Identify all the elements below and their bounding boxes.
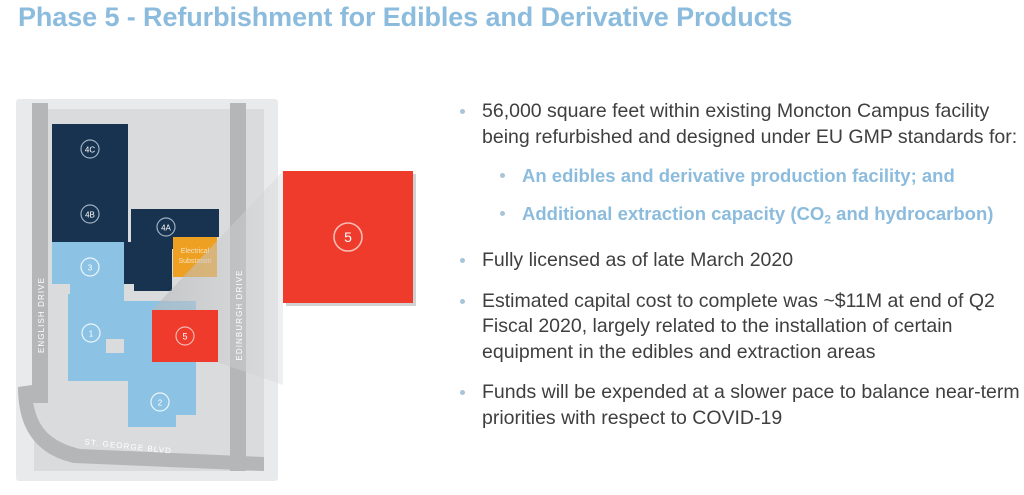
slide-canvas: Phase 5 - Refurbishment for Edibles and … [0, 0, 1024, 495]
sub-bullet-item-2-post: and hydrocarbon) [831, 203, 993, 224]
building-marker-4a-label: 4A [161, 224, 171, 233]
building-marker-4b-label: 4B [85, 211, 95, 220]
site-map: Electrical Substation 5 5 4C 4B [0, 85, 440, 495]
sub-bullet-item-1-text: An edibles and derivative production fac… [522, 165, 955, 186]
bullet-dot-icon [500, 173, 505, 178]
building-marker-1-label: 1 [89, 330, 94, 339]
page-title: Phase 5 - Refurbishment for Edibles and … [18, 2, 998, 33]
bullet-item-2: Fully licensed as of late March 2020 [452, 248, 1020, 274]
building-marker-4c-label: 4C [85, 146, 95, 155]
building-5-marker-label: 5 [182, 332, 187, 342]
building-marker-2-label: 2 [158, 399, 163, 408]
building-4c-4b[interactable] [52, 124, 128, 242]
bullet-item-1-text: 56,000 square feet within existing Monct… [482, 100, 1017, 148]
sub-bullet-item-1: An edibles and derivative production fac… [488, 164, 1020, 188]
bullet-list: 56,000 square feet within existing Monct… [452, 99, 1020, 446]
bullet-item-3: Estimated capital cost to complete was ~… [452, 289, 1020, 366]
bullet-item-1: 56,000 square feet within existing Monct… [452, 99, 1020, 150]
bullet-item-4-text: Funds will be expended at a slower pace … [482, 381, 1020, 429]
bullet-item-3-text: Estimated capital cost to complete was ~… [482, 290, 995, 363]
bullet-item-4: Funds will be expended at a slower pace … [452, 380, 1020, 431]
road-english-drive [32, 103, 48, 403]
bullet-dot-icon [500, 211, 505, 216]
bullet-dot-icon [460, 258, 465, 263]
sub-bullet-list: An edibles and derivative production fac… [452, 164, 1020, 231]
building-1[interactable] [68, 294, 124, 381]
sub-bullet-item-2-subscript: 2 [824, 212, 831, 226]
callout-marker-label: 5 [344, 229, 352, 245]
sub-bullet-item-2-pre: Additional extraction capacity (CO [522, 203, 824, 224]
bullet-item-2-text: Fully licensed as of late March 2020 [482, 249, 793, 271]
building-marker-3-label: 3 [88, 264, 93, 273]
street-label-edinburgh-drive: EDINBURGH DRIVE [235, 269, 244, 360]
sub-bullet-item-2: Additional extraction capacity (CO2 and … [488, 202, 1020, 231]
bullet-dot-icon [460, 299, 465, 304]
street-label-english-drive: ENGLISH DRIVE [37, 277, 46, 353]
site-map-svg: Electrical Substation 5 5 4C 4B [0, 85, 440, 495]
sub-bullet-item-2-text: Additional extraction capacity (CO2 and … [522, 203, 993, 224]
bullet-dot-icon [460, 109, 465, 114]
bullet-dot-icon [460, 390, 465, 395]
